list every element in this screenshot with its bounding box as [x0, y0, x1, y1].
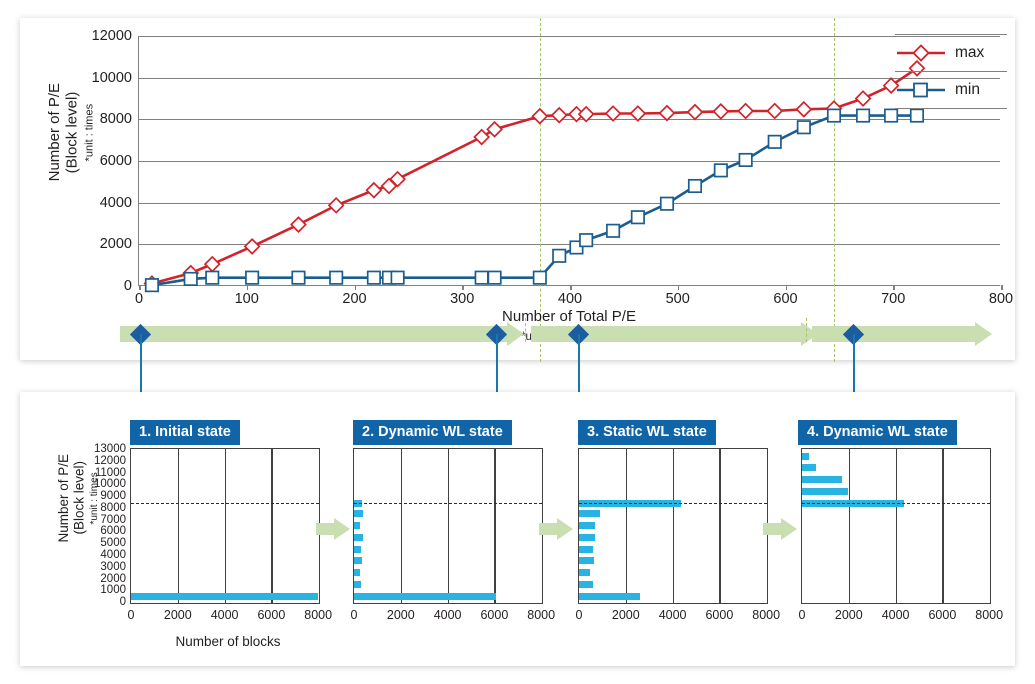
mini-y-tick-13000: 13000	[94, 443, 126, 455]
histogram-chart-2: 02000400060008000	[353, 448, 543, 604]
data-point-max-16[interactable]	[631, 106, 645, 120]
histogram-bar	[354, 522, 360, 529]
data-point-max-17[interactable]	[660, 106, 674, 120]
bottom-y-axis-label-line2: (Block level)	[72, 462, 87, 536]
y-tick-0: 0	[124, 278, 132, 294]
flow-arrow-2-3	[539, 518, 573, 540]
main-series-svg	[139, 36, 1001, 286]
state-tag-4: 4. Dynamic WL state	[798, 420, 957, 445]
mini-x-tick-2000: 2000	[612, 608, 640, 622]
state-tag-3: 3. Static WL state	[578, 420, 716, 445]
mini-x-tick-6000: 6000	[928, 608, 956, 622]
mini-x-tick-8000: 8000	[304, 608, 332, 622]
flow-arrow-1-2	[316, 518, 350, 540]
data-point-min-15[interactable]	[607, 225, 619, 237]
mini-y-tick-1000: 1000	[100, 584, 126, 596]
histogram-bar	[579, 510, 600, 517]
threshold-line	[802, 503, 990, 504]
mini-y-tick-0: 0	[120, 596, 126, 608]
mini-x-tick-4000: 4000	[211, 608, 239, 622]
mini-gridline-6000	[942, 449, 943, 603]
mini-gridline-4000	[673, 449, 674, 603]
phase-arrow-3	[812, 326, 992, 342]
mini-gridline-2000	[849, 449, 850, 603]
state-tag-1: 1. Initial state	[130, 420, 240, 445]
data-point-max-21[interactable]	[768, 104, 782, 118]
data-point-max-22[interactable]	[797, 102, 811, 116]
mini-gridline-4000	[225, 449, 226, 603]
data-point-min-26[interactable]	[911, 109, 923, 121]
data-point-max-6[interactable]	[367, 183, 381, 197]
mini-x-tick-8000: 8000	[975, 608, 1003, 622]
mini-gridline-4000	[896, 449, 897, 603]
data-point-min-25[interactable]	[885, 109, 897, 121]
bottom-y-axis-label-line1: Number of P/E	[56, 454, 71, 543]
data-point-min-21[interactable]	[769, 136, 781, 148]
data-point-min-24[interactable]	[857, 109, 869, 121]
mini-x-tick-6000: 6000	[257, 608, 285, 622]
main-y-axis-label-line2: (Block level)	[63, 91, 80, 173]
mini-x-tick-0: 0	[576, 608, 583, 622]
bottom-y-axis-label: Number of P/E (Block level) *unit : time…	[56, 454, 78, 543]
histogram-bar	[131, 593, 318, 600]
series-line-min	[152, 116, 917, 286]
mini-gridline-6000	[494, 449, 495, 603]
x-tick-200: 200	[342, 291, 366, 307]
data-point-min-19[interactable]	[715, 164, 727, 176]
data-point-min-16[interactable]	[632, 211, 644, 223]
mini-y-tick-3000: 3000	[100, 561, 126, 573]
mini-x-tick-2000: 2000	[835, 608, 863, 622]
data-point-min-2[interactable]	[206, 271, 218, 283]
data-point-max-20[interactable]	[738, 104, 752, 118]
data-point-min-17[interactable]	[661, 198, 673, 210]
mini-x-tick-0: 0	[799, 608, 806, 622]
y-tick-4000: 4000	[100, 195, 132, 211]
data-point-max-4[interactable]	[291, 217, 305, 231]
legend-item-min[interactable]: min	[895, 72, 1007, 109]
mini-y-tick-4000: 4000	[100, 549, 126, 561]
threshold-line	[579, 503, 767, 504]
series-line-max	[152, 68, 917, 283]
y-tick-10000: 10000	[92, 70, 132, 86]
data-point-max-15[interactable]	[606, 106, 620, 120]
mini-x-tick-6000: 6000	[480, 608, 508, 622]
mini-gridline-2000	[626, 449, 627, 603]
main-line-chart: Number of P/E (Block level) *unit : time…	[20, 18, 1015, 360]
mini-x-tick-2000: 2000	[387, 608, 415, 622]
data-point-max-10[interactable]	[487, 122, 501, 136]
data-point-max-24[interactable]	[856, 91, 870, 105]
phase-arrow-1	[120, 326, 524, 342]
histogram-bar	[579, 593, 640, 600]
data-point-max-2[interactable]	[205, 257, 219, 271]
main-chart-legend: max min	[895, 34, 1007, 109]
y-tick-2000: 2000	[100, 236, 132, 252]
data-point-max-3[interactable]	[245, 239, 259, 253]
mini-y-tick-10000: 10000	[94, 478, 126, 490]
data-point-min-11[interactable]	[534, 271, 546, 283]
data-point-min-6[interactable]	[368, 271, 380, 283]
mini-x-tick-6000: 6000	[705, 608, 733, 622]
data-point-max-12[interactable]	[552, 108, 566, 122]
x-tick-700: 700	[881, 291, 905, 307]
data-point-min-10[interactable]	[488, 271, 500, 283]
threshold-line	[131, 503, 319, 504]
x-tick-0: 0	[135, 291, 143, 307]
mini-gridline-2000	[401, 449, 402, 603]
main-plot-area: 12000 10000 8000 6000 4000 2000 0 0 100 …	[138, 36, 1000, 286]
data-point-max-11[interactable]	[533, 109, 547, 123]
y-tick-8000: 8000	[100, 111, 132, 127]
mini-gridline-6000	[719, 449, 720, 603]
data-point-min-4[interactable]	[292, 271, 304, 283]
main-y-axis-label: Number of P/E (Block level) *unit : time…	[46, 83, 70, 181]
mini-y-tick-6000: 6000	[100, 525, 126, 537]
mini-y-tick-8000: 8000	[100, 502, 126, 514]
phase-arrow-band	[20, 320, 1015, 354]
histogram-bar	[802, 464, 816, 471]
histogram-bar	[579, 522, 595, 529]
x-tickmark-800	[1001, 285, 1003, 290]
state-histograms: Number of P/E (Block level) *unit : time…	[20, 392, 1015, 666]
data-point-min-12[interactable]	[553, 250, 565, 262]
histogram-chart-4: 02000400060008000	[801, 448, 991, 604]
data-point-min-20[interactable]	[739, 154, 751, 166]
histogram-chart-1: 0200040006000800013000120001100010000900…	[130, 448, 320, 604]
mini-x-tick-0: 0	[128, 608, 135, 622]
mini-y-tick-11000: 11000	[95, 467, 126, 479]
main-y-axis-label-line1: Number of P/E	[46, 83, 63, 181]
histogram-chart-3: 02000400060008000	[578, 448, 768, 604]
mini-y-tick-2000: 2000	[100, 573, 126, 585]
data-point-max-19[interactable]	[714, 104, 728, 118]
mini-y-tick-9000: 9000	[100, 490, 126, 502]
histogram-bar	[579, 557, 594, 564]
histogram-bar	[354, 581, 361, 588]
histogram-bar	[802, 476, 842, 483]
histogram-bar	[354, 593, 496, 600]
legend-label-max: max	[955, 44, 984, 62]
data-point-min-22[interactable]	[798, 121, 810, 133]
legend-item-max[interactable]: max	[895, 34, 1007, 72]
main-chart-panel: Number of P/E (Block level) *unit : time…	[20, 18, 1015, 360]
mini-y-tick-5000: 5000	[100, 537, 126, 549]
mini-y-tick-12000: 12000	[94, 455, 126, 467]
x-tick-600: 600	[773, 291, 797, 307]
histogram-bar	[579, 546, 593, 553]
mini-x-tick-0: 0	[351, 608, 358, 622]
histogram-bar	[802, 453, 809, 460]
mini-gridline-4000	[448, 449, 449, 603]
data-point-max-5[interactable]	[329, 198, 343, 212]
x-tick-400: 400	[558, 291, 582, 307]
mini-gridline-2000	[178, 449, 179, 603]
band-divider-2	[806, 318, 807, 342]
mini-gridline-6000	[271, 449, 272, 603]
y-tick-6000: 6000	[100, 153, 132, 169]
bottom-x-axis-label: Number of blocks	[130, 634, 326, 649]
histogram-bar	[579, 581, 593, 588]
state-histograms-panel: Number of P/E (Block level) *unit : time…	[20, 392, 1015, 666]
data-point-min-0[interactable]	[146, 279, 158, 291]
histogram-bar	[354, 510, 363, 517]
x-tick-800: 800	[989, 291, 1013, 307]
x-tick-500: 500	[666, 291, 690, 307]
mini-x-tick-8000: 8000	[752, 608, 780, 622]
mini-x-tick-4000: 4000	[659, 608, 687, 622]
mini-y-tick-7000: 7000	[100, 514, 126, 526]
x-tick-300: 300	[450, 291, 474, 307]
histogram-bar	[579, 569, 590, 576]
histogram-bar	[802, 488, 848, 495]
histogram-bar	[579, 534, 595, 541]
x-tick-100: 100	[235, 291, 259, 307]
data-point-min-23[interactable]	[828, 109, 840, 121]
y-tick-12000: 12000	[92, 28, 132, 44]
legend-label-min: min	[955, 81, 980, 99]
data-point-min-9[interactable]	[475, 271, 487, 283]
mini-x-tick-8000: 8000	[527, 608, 555, 622]
mini-x-tick-4000: 4000	[434, 608, 462, 622]
histogram-bar	[354, 557, 362, 564]
legend-key-min-icon	[895, 80, 947, 100]
data-point-max-18[interactable]	[688, 105, 702, 119]
data-point-min-14[interactable]	[580, 234, 592, 246]
data-point-min-1[interactable]	[185, 273, 197, 285]
histogram-bar	[354, 569, 360, 576]
data-point-max-9[interactable]	[474, 130, 488, 144]
data-point-min-3[interactable]	[246, 271, 258, 283]
state-tag-2: 2. Dynamic WL state	[353, 420, 512, 445]
mini-x-tick-2000: 2000	[164, 608, 192, 622]
data-point-min-8[interactable]	[391, 271, 403, 283]
threshold-line	[354, 503, 542, 504]
data-point-min-18[interactable]	[689, 180, 701, 192]
data-point-max-14[interactable]	[579, 107, 593, 121]
histogram-bar	[354, 546, 361, 553]
legend-key-max-icon	[895, 43, 947, 63]
histogram-bar	[354, 534, 363, 541]
data-point-min-5[interactable]	[330, 271, 342, 283]
flow-arrow-3-4	[763, 518, 797, 540]
mini-x-tick-4000: 4000	[882, 608, 910, 622]
main-y-axis-note: *unit : times	[84, 103, 96, 160]
band-divider-1	[525, 318, 526, 342]
